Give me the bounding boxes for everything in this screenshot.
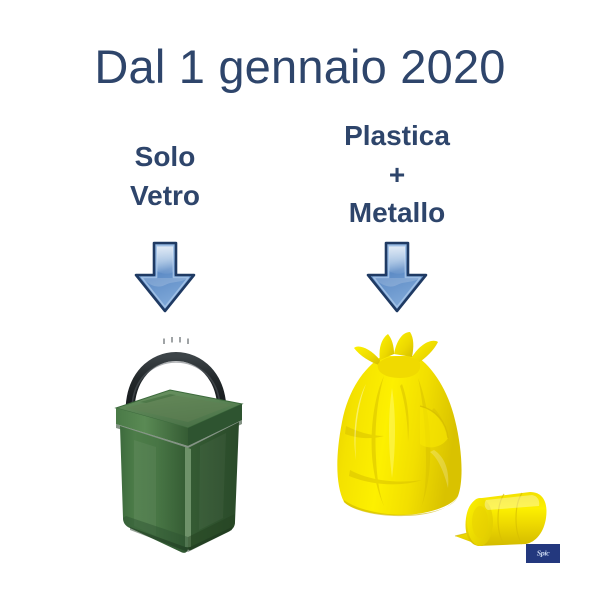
page-title: Dal 1 gennaio 2020 (0, 40, 600, 94)
brand-logo-mark: Spic (537, 550, 550, 558)
column-heading-plastica-metallo: Plastica + Metallo (287, 117, 507, 233)
poster-canvas: Dal 1 gennaio 2020 Solo Vetro Plastica +… (0, 0, 600, 600)
green-waste-bin-icon (96, 316, 256, 554)
down-arrow-icon (127, 239, 203, 315)
brand-logo-icon: Spic (526, 544, 560, 563)
down-arrow-icon (359, 239, 435, 315)
yellow-bag-roll-icon (452, 486, 552, 552)
column-heading-vetro: Solo Vetro (45, 138, 285, 215)
